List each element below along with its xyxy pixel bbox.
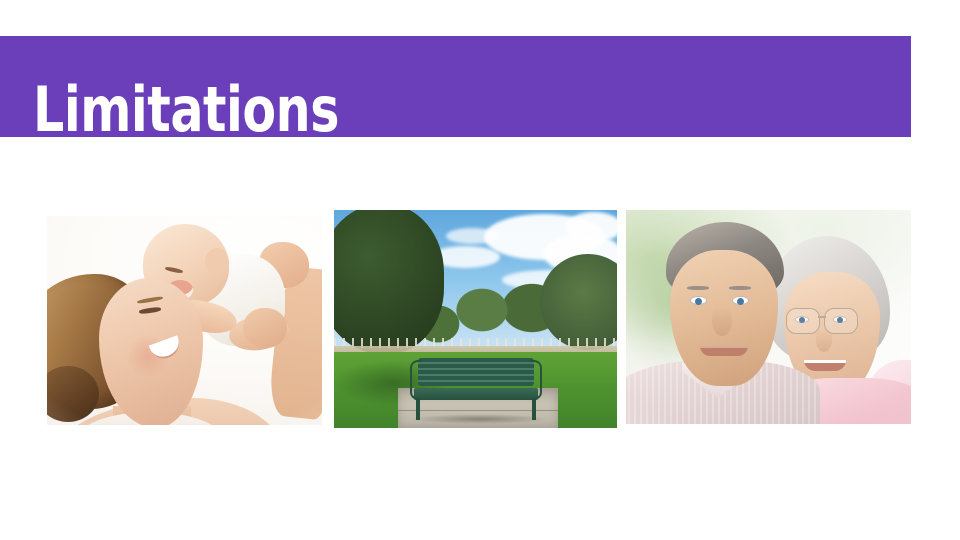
slide: Limitations (0, 0, 960, 540)
bench-leg-left (416, 398, 420, 420)
man-eyebrow-right (729, 286, 751, 290)
image-mother-baby (47, 216, 322, 425)
bench-seat (414, 388, 538, 400)
woman-iris-right (837, 317, 843, 323)
bench-armrest-left (410, 360, 422, 400)
man-eyebrow-left (687, 286, 709, 290)
bench-backrest (418, 358, 534, 386)
bench-leg-right (532, 398, 536, 420)
cloud (566, 212, 617, 242)
image-park-bench (334, 210, 617, 428)
baby-ear (205, 248, 229, 276)
page-title: Limitations (33, 79, 339, 141)
man-iris-left (695, 298, 702, 305)
man-iris-right (737, 298, 744, 305)
man-smile (700, 346, 748, 356)
eyeglass-bridge (818, 316, 826, 318)
woman-iris-left (799, 317, 805, 323)
woman-nose (816, 328, 832, 352)
park-bench (410, 358, 542, 420)
man-nose (712, 306, 732, 336)
cloud (446, 228, 498, 244)
woman-smile (804, 360, 846, 371)
image-elderly-couple (626, 210, 911, 424)
large-tree-left (334, 210, 444, 354)
bench-armrest-right (530, 360, 542, 400)
mother-hand-left (243, 308, 287, 348)
title-banner: Limitations (0, 36, 911, 137)
